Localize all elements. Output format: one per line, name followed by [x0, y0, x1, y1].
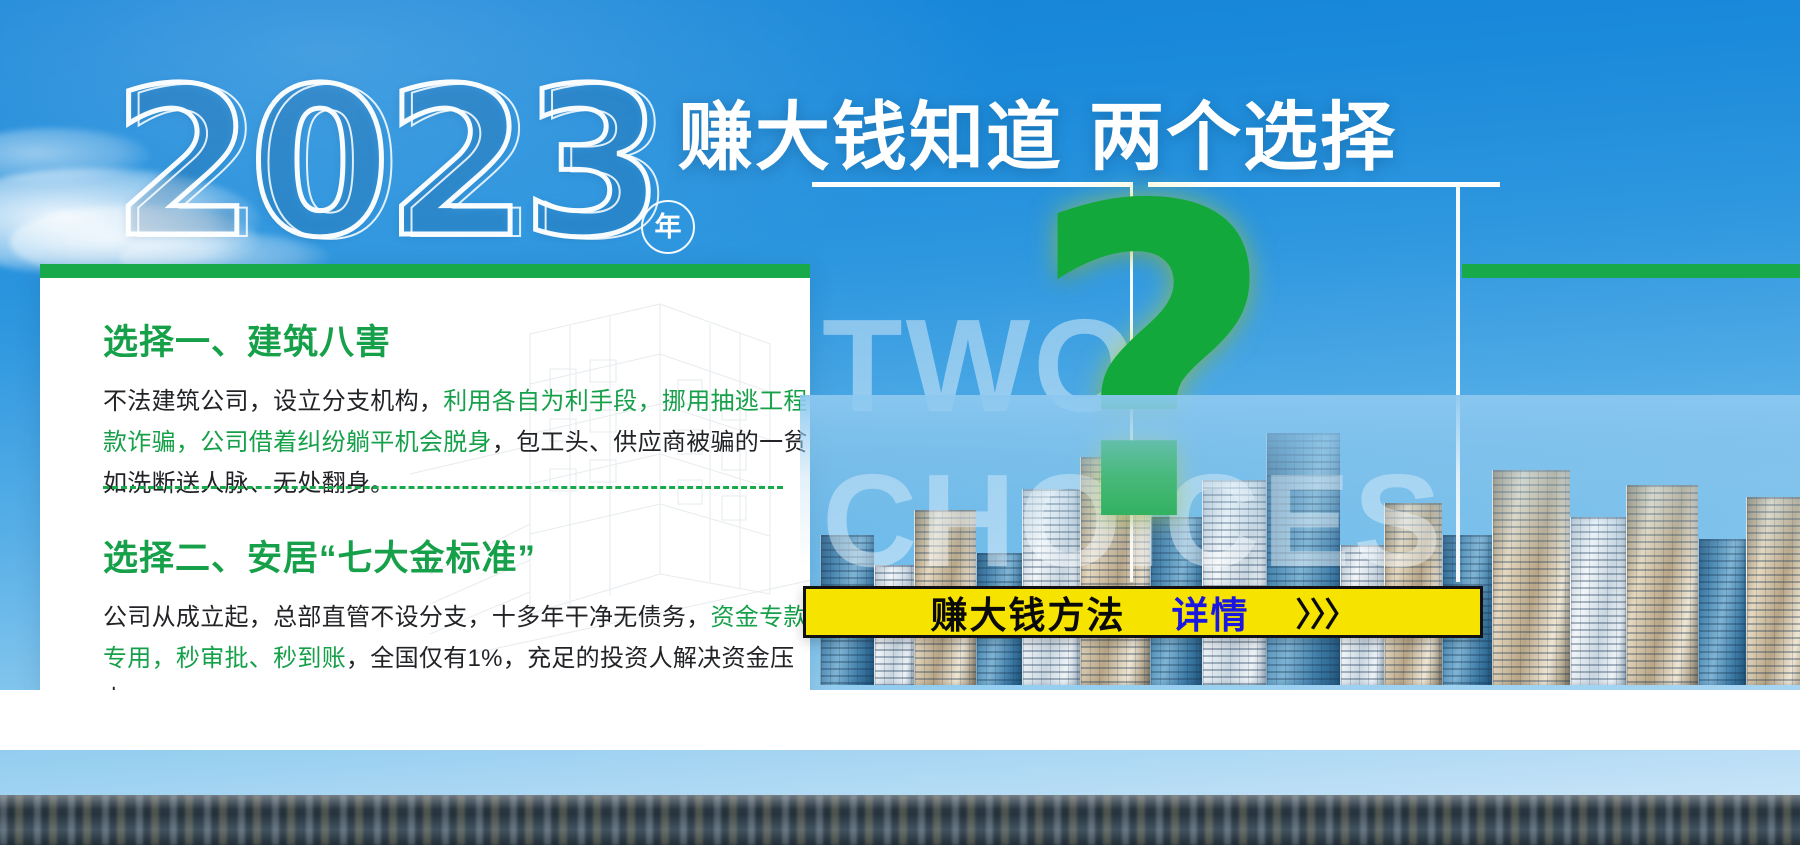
section-two: 选择二、安居“七大金标准” 公司从成立起，总部直管不设分支，十多年干净无债务，资… [103, 530, 796, 709]
banner-root: 2023 2023 年 赚大钱知道两个选择 TWO CHOICES ? [0, 0, 1800, 845]
card-green-bar [40, 264, 810, 278]
cta-label-method: 赚大钱方法 [931, 585, 1126, 639]
cta-button[interactable]: 赚大钱方法 详情 〉〉〉 [803, 586, 1483, 638]
cta-label-details: 详情 [1172, 585, 1250, 639]
bottom-reflection-strip [0, 795, 1800, 845]
content-card: 选择一、建筑八害 不法建筑公司，设立分支机构，利用各自为利手段，挪用抽逃工程款诈… [40, 264, 810, 709]
year-outline-inner: 2023 [122, 64, 669, 269]
headline-left: 赚大钱知道 [678, 95, 1063, 179]
right-green-bar [1462, 264, 1800, 278]
section-one-title: 选择一、建筑八害 [103, 314, 796, 365]
page-white-base [0, 690, 1800, 750]
question-mark-icon: ? [1028, 200, 1277, 535]
body-text-plain: 不法建筑公司，设立分支机构， [103, 388, 443, 415]
vertical-divider-right [1456, 182, 1460, 582]
chevron-right-icon: 〉〉〉 [1296, 588, 1356, 636]
body-text-plain: 公司从成立起，总部直管不设分支，十多年干净无债务， [103, 604, 711, 631]
year-unit-badge: 年 [641, 200, 695, 254]
section-two-title: 选择二、安居“七大金标准” [103, 530, 796, 581]
section-divider [103, 486, 783, 489]
section-one: 选择一、建筑八害 不法建筑公司，设立分支机构，利用各自为利手段，挪用抽逃工程款诈… [103, 314, 796, 504]
